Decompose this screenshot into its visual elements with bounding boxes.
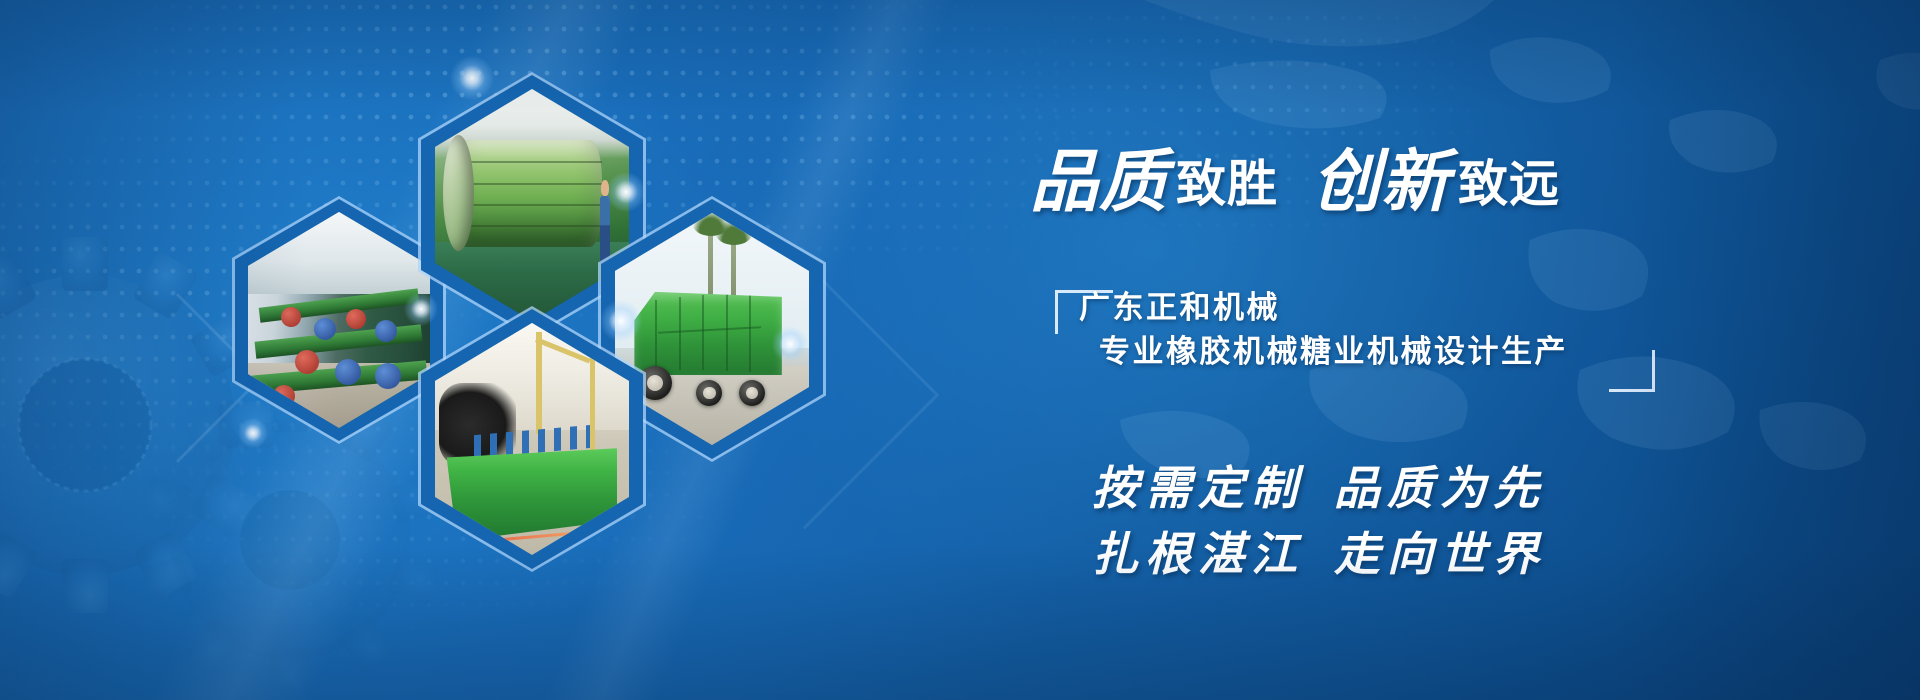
headline-brush-1: 品质: [1030, 142, 1168, 222]
slogan-2-right: 走向世界: [1334, 527, 1546, 581]
banner-text-block: 品质致胜创新致远 广东正和机械 专业橡胶机械糖业机械设计生产 按需定制品质为先 …: [0, 0, 1920, 700]
slogan-1-right: 品质为先: [1334, 461, 1546, 515]
company-business-scope: 专业橡胶机械糖业机械设计生产: [1099, 326, 1568, 371]
company-info-block: 广东正和机械 专业橡胶机械糖业机械设计生产: [1055, 290, 1615, 386]
bracket-bottom-right-icon: [1609, 350, 1655, 392]
promo-banner: 品质致胜创新致远 广东正和机械 专业橡胶机械糖业机械设计生产 按需定制品质为先 …: [0, 0, 1920, 700]
slogan-2-left: 扎根湛江: [1092, 527, 1304, 581]
banner-headline: 品质致胜创新致远: [1030, 126, 1560, 225]
company-name: 广东正和机械: [1079, 282, 1280, 327]
slogan-1-left: 按需定制: [1092, 461, 1304, 515]
headline-regular-1: 致胜: [1176, 155, 1278, 213]
headline-brush-2: 创新: [1312, 142, 1450, 222]
headline-regular-2: 致远: [1458, 155, 1560, 213]
slogan-line-1: 按需定制品质为先: [1092, 452, 1546, 518]
slogan-line-2: 扎根湛江走向世界: [1092, 518, 1546, 584]
